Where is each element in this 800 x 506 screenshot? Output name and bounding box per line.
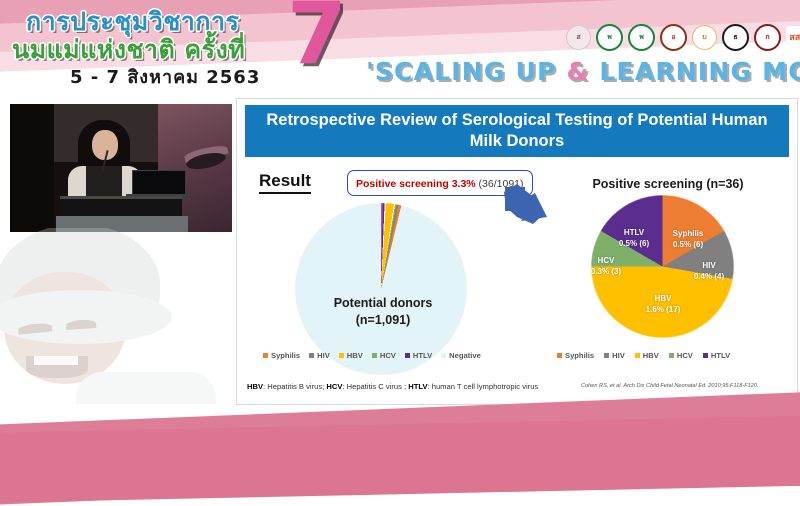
video-background-left (10, 104, 54, 232)
slice-label-htlv-name: HTLV (609, 228, 659, 239)
legend-swatch-hiv-right (604, 353, 609, 358)
baby-body (76, 372, 216, 404)
pie-left-disc (295, 203, 467, 375)
legend-item-hcv-left: HCV (372, 351, 396, 360)
footnote-htlv-val: : human T cell lymphotropic virus (428, 382, 539, 391)
legend-item-htlv-right: HTLV (703, 351, 730, 360)
legend-label-hcv: HCV (380, 351, 396, 360)
legend-item-hiv-left: HIV (309, 351, 330, 360)
legend-swatch-hcv (372, 353, 377, 358)
slice-label-hiv: HIV 0.4% (4) (685, 261, 733, 283)
legend-swatch-syphilis-right (557, 353, 562, 358)
pie-left-center-label: Potential donors (n=1,091) (283, 295, 483, 329)
legend-label-hiv: HIV (317, 351, 330, 360)
positive-screening-chart-title: Positive screening (n=36) (553, 177, 783, 191)
legend-swatch-hbv (339, 353, 344, 358)
positive-screening-pie-chart: Syphilis 0.5% (6) HIV 0.4% (4) HBV 1.6% … (567, 195, 757, 345)
legend-item-htlv-left: HTLV (405, 351, 432, 360)
logo-ministry-public-health-green-2: พ (628, 24, 655, 51)
legend-left: Syphilis HIV HBV HCV HTLV Negative (263, 351, 513, 360)
legend-item-hbv-left: HBV (339, 351, 363, 360)
event-edition-number: 7 (287, 0, 347, 77)
legend-label-hbv: HBV (347, 351, 363, 360)
legend-item-hbv-right: HBV (635, 351, 659, 360)
sponsor-logo-strip: ส พ พ อ บ ธ ก สสส (566, 24, 800, 51)
tagline-part2: LEARNING MORE' (589, 57, 800, 86)
slice-label-syphilis: Syphilis 0.5% (6) (659, 229, 717, 251)
event-date-thai: 5 - 7 สิงหาคม 2563 (70, 62, 260, 91)
footnote-hcv-key: HCV (326, 382, 342, 391)
legend-swatch-hbv-right (635, 353, 640, 358)
baby-hat-brim (0, 290, 172, 344)
legend-label-htlv: HTLV (413, 351, 432, 360)
legend-label-hbv-right: HBV (643, 351, 659, 360)
footnote-hbv-val: : Hepatitis B virus; (263, 382, 326, 391)
slice-label-htlv-value: 0.5% (6) (609, 239, 659, 250)
pie-left-label-line1: Potential donors (283, 295, 483, 312)
slice-label-hbv: HBV 1.6% (17) (637, 294, 689, 316)
legend-swatch-hcv-right (669, 353, 674, 358)
presentation-slide: Retrospective Review of Serological Test… (236, 98, 798, 405)
slice-label-syphilis-name: Syphilis (659, 229, 717, 240)
slice-label-hbv-name: HBV (637, 294, 689, 305)
legend-swatch-negative (441, 353, 446, 358)
footnote-htlv-key: HTLV (408, 382, 427, 391)
logo-thai-emblem-red: อ (660, 24, 687, 51)
slice-label-hiv-name: HIV (685, 261, 733, 272)
logo-red-garuda: ก (754, 24, 781, 51)
slice-label-hcv-name: HCV (583, 256, 629, 267)
tagline-ampersand: & (566, 57, 589, 86)
legend-label-negative: Negative (449, 351, 481, 360)
logo-royal-crown-gold: บ (692, 25, 717, 50)
slice-label-syphilis-value: 0.5% (6) (659, 240, 717, 251)
legend-label-syphilis-right: Syphilis (565, 351, 594, 360)
event-header-banner: การประชุมวิชาการ นมแม่แห่งชาติ ครั้งที่ … (0, 0, 800, 95)
slice-label-hbv-value: 1.6% (17) (637, 305, 689, 316)
legend-label-hiv-right: HIV (612, 351, 625, 360)
legend-label-htlv-right: HTLV (711, 351, 730, 360)
tagline-part1: 'SCALING UP (366, 57, 566, 86)
logo-black-circle-emblem: ธ (722, 24, 749, 51)
legend-swatch-htlv (405, 353, 410, 358)
slice-label-hcv: HCV 0.3% (3) (583, 256, 629, 278)
legend-item-syphilis-right: Syphilis (557, 351, 594, 360)
legend-item-negative-left: Negative (441, 351, 481, 360)
speaker-video-thumbnail[interactable] (10, 104, 232, 232)
legend-swatch-hiv (309, 353, 314, 358)
legend-label-hcv-right: HCV (677, 351, 693, 360)
blue-arrow-icon (503, 183, 549, 225)
slice-label-hcv-value: 0.3% (3) (583, 267, 629, 278)
footnote-hbv-key: HBV (247, 382, 263, 391)
slice-label-htlv: HTLV 0.5% (6) (609, 228, 659, 250)
baby-watermark-image (0, 228, 232, 404)
legend-swatch-syphilis (263, 353, 268, 358)
footnote-hcv-val: : Hepatitis C virus ; (342, 382, 408, 391)
legend-right: Syphilis HIV HBV HCV HTLV (557, 351, 777, 360)
baby-teeth (34, 356, 78, 365)
legend-item-hcv-right: HCV (669, 351, 693, 360)
callout-strong-text: Positive screening 3.3% (356, 178, 476, 190)
result-heading: Result (259, 171, 311, 194)
logo-royal-seal: ส (566, 25, 591, 50)
slide-citation: Cohen RS, et al. Arch Dis Child Fetal Ne… (581, 383, 759, 389)
slide-title: Retrospective Review of Serological Test… (245, 105, 789, 157)
legend-swatch-htlv-right (703, 353, 708, 358)
legend-item-hiv-right: HIV (604, 351, 625, 360)
logo-ministry-public-health-green-1: พ (596, 24, 623, 51)
logo-thaihealth-sss: สสส (786, 26, 800, 49)
legend-item-syphilis-left: Syphilis (263, 351, 300, 360)
event-tagline: 'SCALING UP & LEARNING MORE' (366, 57, 800, 86)
slice-label-hiv-value: 0.4% (4) (685, 272, 733, 283)
legend-label-syphilis: Syphilis (271, 351, 300, 360)
pie-left-label-line2: (n=1,091) (283, 312, 483, 329)
